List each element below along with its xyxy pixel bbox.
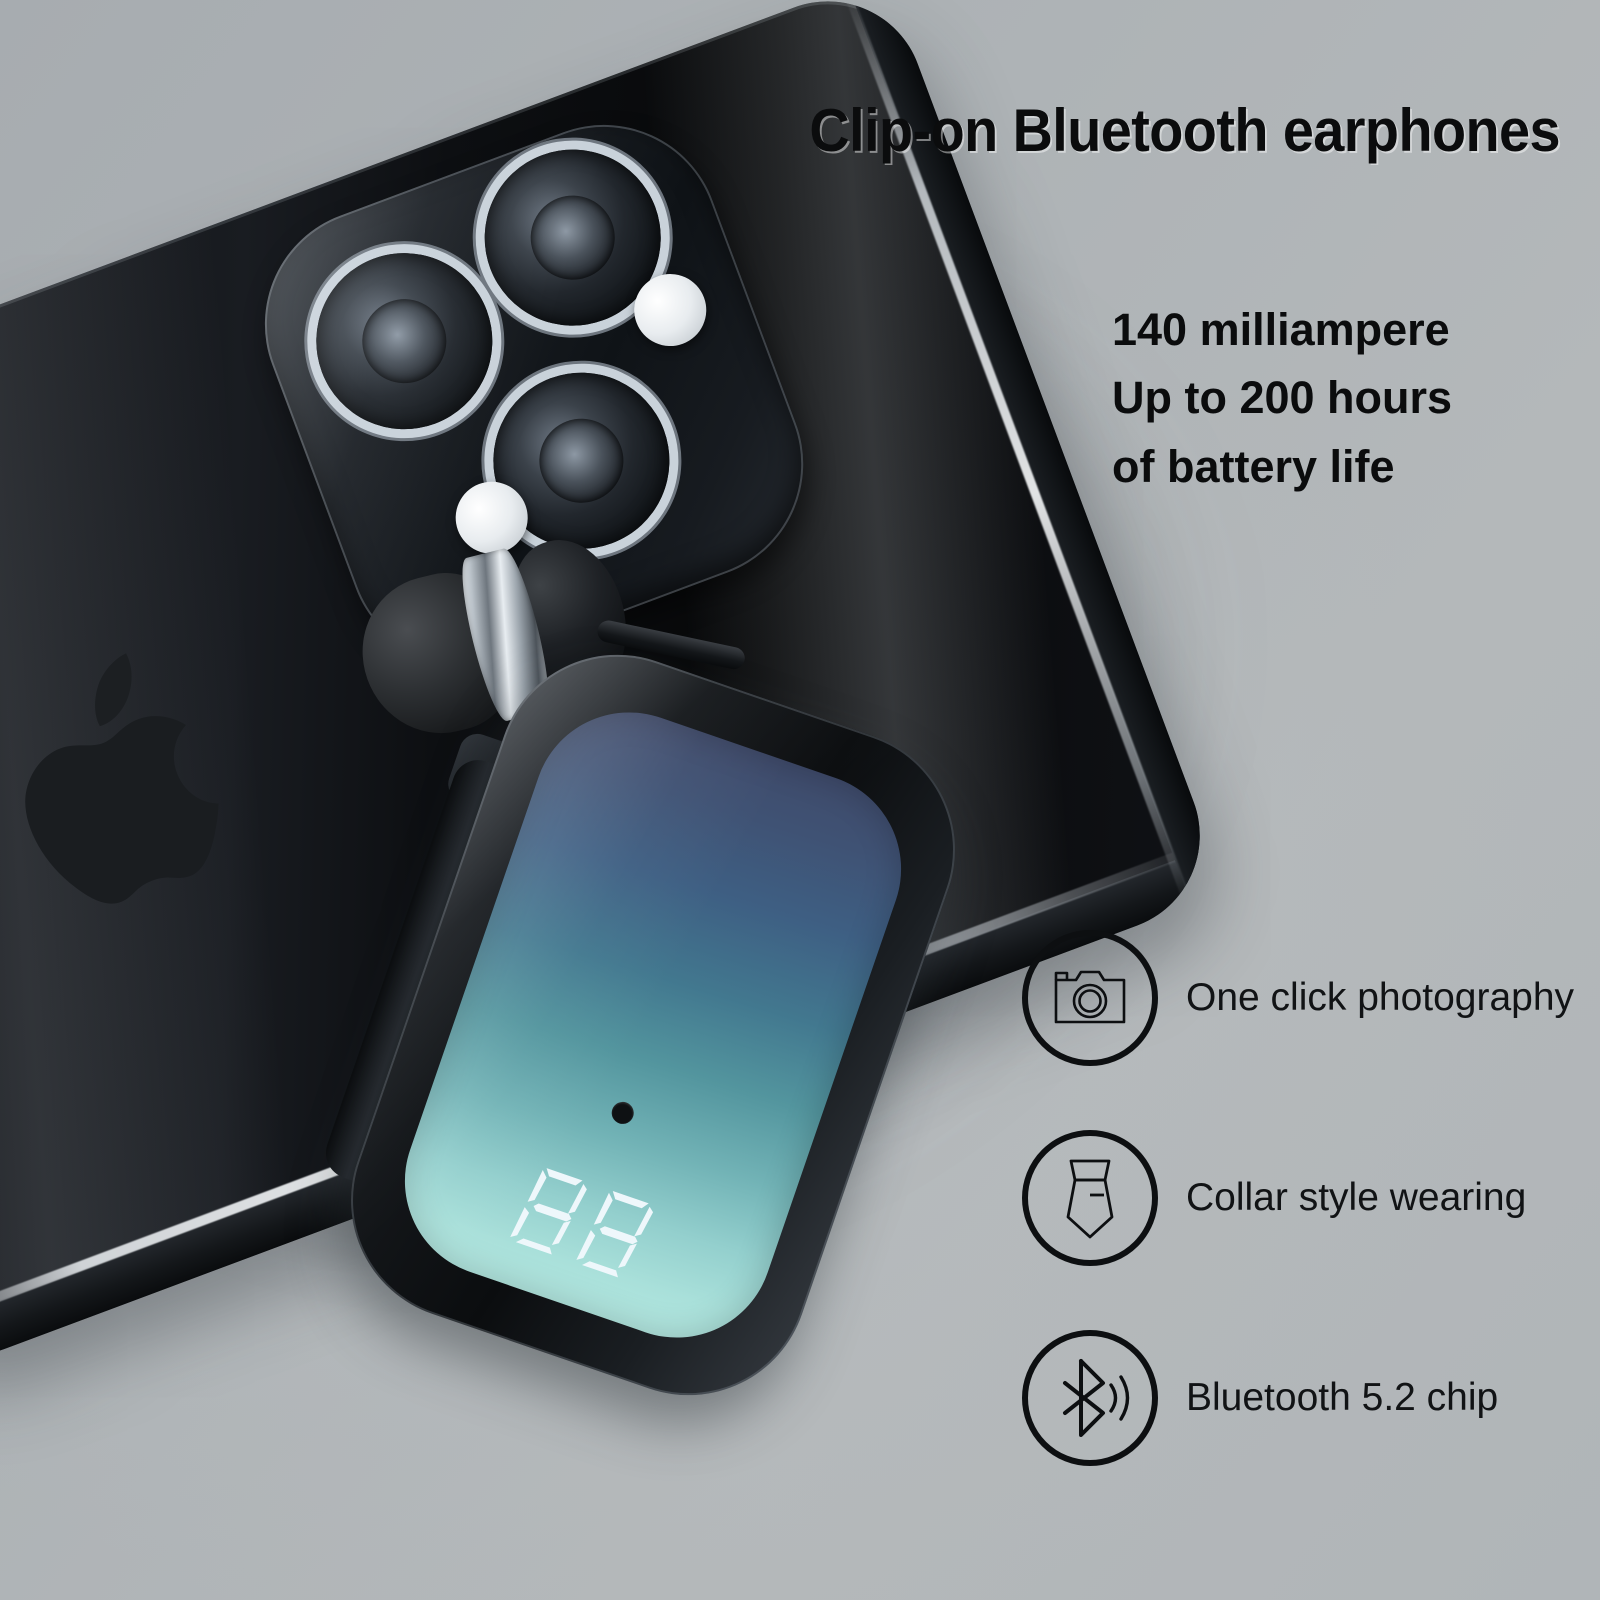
feature-list: One click photography Collar style weari… <box>1022 898 1582 1498</box>
spec-line: 140 milliampere <box>1112 296 1562 364</box>
spec-line: of battery life <box>1112 433 1562 501</box>
bluetooth-icon <box>1022 1330 1158 1466</box>
feature-item-bluetooth: Bluetooth 5.2 chip <box>1022 1298 1582 1498</box>
necktie-icon <box>1022 1130 1158 1266</box>
feature-label: One click photography <box>1186 976 1574 1020</box>
camera-icon <box>1022 930 1158 1066</box>
feature-label: Collar style wearing <box>1186 1176 1526 1220</box>
feature-label: Bluetooth 5.2 chip <box>1186 1376 1498 1420</box>
product-marketing-image: Clip-on Bluetooth earphones 140 milliamp… <box>0 0 1600 1600</box>
feature-item-photography: One click photography <box>1022 898 1582 1098</box>
feature-item-collar: Collar style wearing <box>1022 1098 1582 1298</box>
battery-spec-block: 140 milliampere Up to 200 hours of batte… <box>1112 296 1562 501</box>
page-title: Clip-on Bluetooth earphones <box>723 96 1560 165</box>
spec-line: Up to 200 hours <box>1112 364 1562 432</box>
